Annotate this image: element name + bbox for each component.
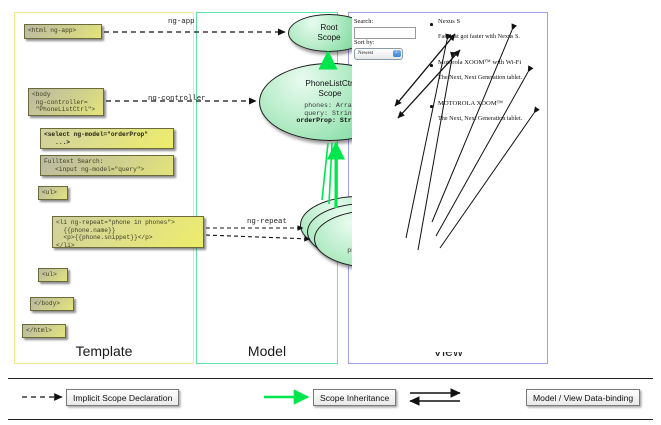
root-scope-title-2: Scope [317, 33, 340, 43]
code-box-html: <html ng-app> [24, 24, 102, 39]
sort-by-label: Sort by: [354, 39, 374, 46]
code-box-body: <body ng-controller= "PhoneListCtrl"> [28, 88, 104, 116]
legend-label-implicit: Implicit Scope Declaration [66, 389, 179, 406]
code-box-fulltext-search: Fulltext Search: <input ng-model="query"… [40, 155, 174, 176]
view-mock: Search: Sort by: Newest Nexus S Fast jus… [352, 16, 542, 352]
props-plain: phones: Array query: String [304, 102, 355, 117]
code-box-li-ng-repeat: <li ng-repeat="phone in phones"> {{phone… [52, 216, 204, 248]
select-arrows-icon [393, 50, 401, 57]
code-box-ul-open: <ul> [38, 186, 68, 200]
code-box-body-close: </body> [30, 297, 74, 311]
sort-by-selected-value: Newest [358, 51, 373, 56]
code-box-html-close: </html> [22, 324, 66, 338]
search-input[interactable] [354, 27, 416, 39]
phone-list-ctrl-title-2: Scope [318, 89, 341, 99]
diagram-canvas: Template Model View <html ng-app> <body … [0, 0, 661, 425]
edge-label-ng-controller: ng-controller [148, 95, 206, 103]
phone-list-ctrl-title-1: PhoneListCtrl [305, 79, 354, 89]
phone-snippet-2: The Next, Next Generation tablet. [438, 115, 522, 122]
panel-label-model: Model [197, 343, 337, 359]
legend-label-databinding: Model / View Data-binding [526, 389, 640, 406]
root-scope-title-1: Root [320, 23, 337, 33]
list-bullet [430, 105, 433, 108]
legend-label-inheritance: Scope Inheritance [313, 389, 396, 406]
list-bullet [430, 64, 433, 67]
phone-name-0[interactable]: Nexus S [438, 18, 460, 25]
legend: Implicit Scope Declaration Scope Inherit… [8, 378, 653, 420]
phone-snippet-1: The Next, Next Generation tablet. [438, 74, 522, 81]
phone-name-1[interactable]: Motorola XOOM™ with Wi-Fi [438, 59, 521, 66]
phone-name-2[interactable]: MOTOROLA XOOM™ [438, 100, 503, 107]
edge-label-ng-repeat: ng-repeat [247, 218, 287, 226]
search-label: Search: [354, 18, 373, 25]
code-box-ul-close: <ul> [38, 268, 68, 282]
phone-snippet-0: Fast just got faster with Nexus S. [438, 33, 520, 40]
code-box-select: <select ng-model="orderProp" ...> [40, 128, 174, 149]
edge-label-ng-app: ng-app [168, 18, 195, 26]
sort-by-select[interactable]: Newest [354, 48, 403, 60]
list-bullet [430, 23, 433, 26]
panel-label-template: Template [15, 343, 193, 359]
